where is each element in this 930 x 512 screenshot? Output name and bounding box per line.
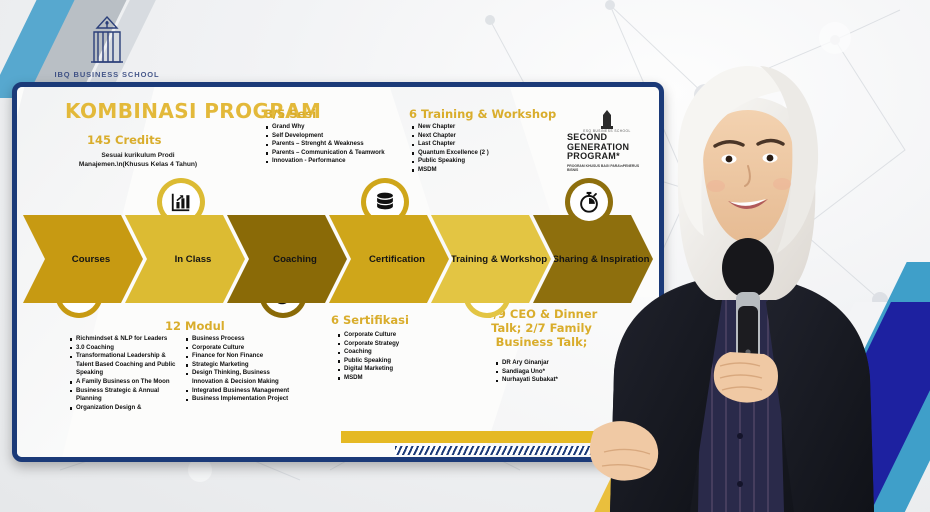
list-training: New ChapterNext ChapterLast ChapterQuant… (411, 123, 541, 175)
list-item: MSDM (337, 374, 452, 383)
list-sertifikasi: Corporate CultureCorporate StrategyCoach… (337, 331, 452, 383)
list-item: Quantum Excellence (2 ) (411, 149, 541, 158)
list-item: Next Chapter (411, 132, 541, 141)
list-item: Business Process (185, 335, 297, 344)
subtext-credits: Sesuai kurikulum Prodi Manajemen.\n(Khus… (73, 151, 203, 169)
flow-step-in-class[interactable]: In Class (125, 215, 245, 303)
building-columns-icon (84, 14, 130, 68)
list-item: Public Speaking (411, 157, 541, 166)
list-item: Corporate Culture (337, 331, 452, 340)
flow-step-label: Certification (345, 254, 449, 265)
list-item: Strategic Marketing (185, 361, 297, 370)
list-item: Self Development (265, 132, 385, 141)
list-item: New Chapter (411, 123, 541, 132)
list-item: Transformational Leadership & Talent Bas… (69, 352, 181, 378)
school-logo: IBQ BUSINESS SCHOOL (42, 14, 172, 79)
program-flow: CoursesIn ClassCoachingCertificationTrai… (23, 215, 659, 303)
presenter-video-feed (570, 0, 930, 512)
heading-training: 6 Training & Workshop (409, 107, 556, 121)
list-item: MSDM (411, 166, 541, 175)
list-item: Design Thinking, Business Innovation & D… (185, 369, 297, 386)
flow-step-label: Coaching (243, 254, 347, 265)
list-item: Coaching (337, 348, 452, 357)
list-item: Integrated Business Management (185, 387, 297, 396)
heading-modul: 12 Modul (165, 319, 225, 333)
list-item: Finance for Non Finance (185, 352, 297, 361)
list-item: 3.0 Coaching (69, 344, 181, 353)
slide-canvas: KOMBINASI PROGRAM ESQ BUSINESS SCHOOL SE… (17, 87, 659, 457)
list-item: Corporate Strategy (337, 340, 452, 349)
list-item: Parents – Communication & Teamwork (265, 149, 385, 158)
list-item: A Family Business on The Moon (69, 378, 181, 387)
list-item: Business Implementation Project (185, 395, 297, 404)
list-modul-left: Richmindset & NLP for Leaders3.0 Coachin… (69, 335, 181, 412)
heading-credits: 145 Credits (87, 133, 161, 147)
flow-step-training-workshop[interactable]: Training & Workshop (431, 215, 551, 303)
list-sesi: Grand WhySelf DevelopmentParents – Stren… (265, 123, 385, 166)
flow-step-certification[interactable]: Certification (329, 215, 449, 303)
list-item: Organization Design & (69, 404, 181, 413)
list-item: Public Speaking (337, 357, 452, 366)
list-item: Corporate Culture (185, 344, 297, 353)
school-logo-name: IBQ BUSINESS SCHOOL (42, 70, 172, 79)
list-item: Parents – Strenght & Weakness (265, 140, 385, 149)
list-item: Richmindset & NLP for Leaders (69, 335, 181, 344)
flow-step-coaching[interactable]: Coaching (227, 215, 347, 303)
video-stage: IBQ BUSINESS SCHOOL KOMBINASI PROGRAM ES… (0, 0, 930, 512)
flow-step-courses[interactable]: Courses (23, 215, 143, 303)
list-item: Innovation - Performance (265, 157, 385, 166)
list-modul-right: Business ProcessCorporate CultureFinance… (185, 335, 297, 404)
list-item: Digital Marketing (337, 365, 452, 374)
flow-step-label: Training & Workshop (447, 254, 551, 265)
heading-sertifikasi: 6 Sertifikasi (331, 313, 409, 327)
heading-sesi: 3/5 Sesi (265, 107, 316, 121)
flow-step-label: In Class (141, 254, 245, 265)
list-item: Grand Why (265, 123, 385, 132)
presentation-slide[interactable]: KOMBINASI PROGRAM ESQ BUSINESS SCHOOL SE… (12, 82, 664, 462)
list-item: Last Chapter (411, 140, 541, 149)
flow-step-label: Courses (39, 254, 143, 265)
list-item: Business Strategic & Annual Planning (69, 387, 181, 404)
